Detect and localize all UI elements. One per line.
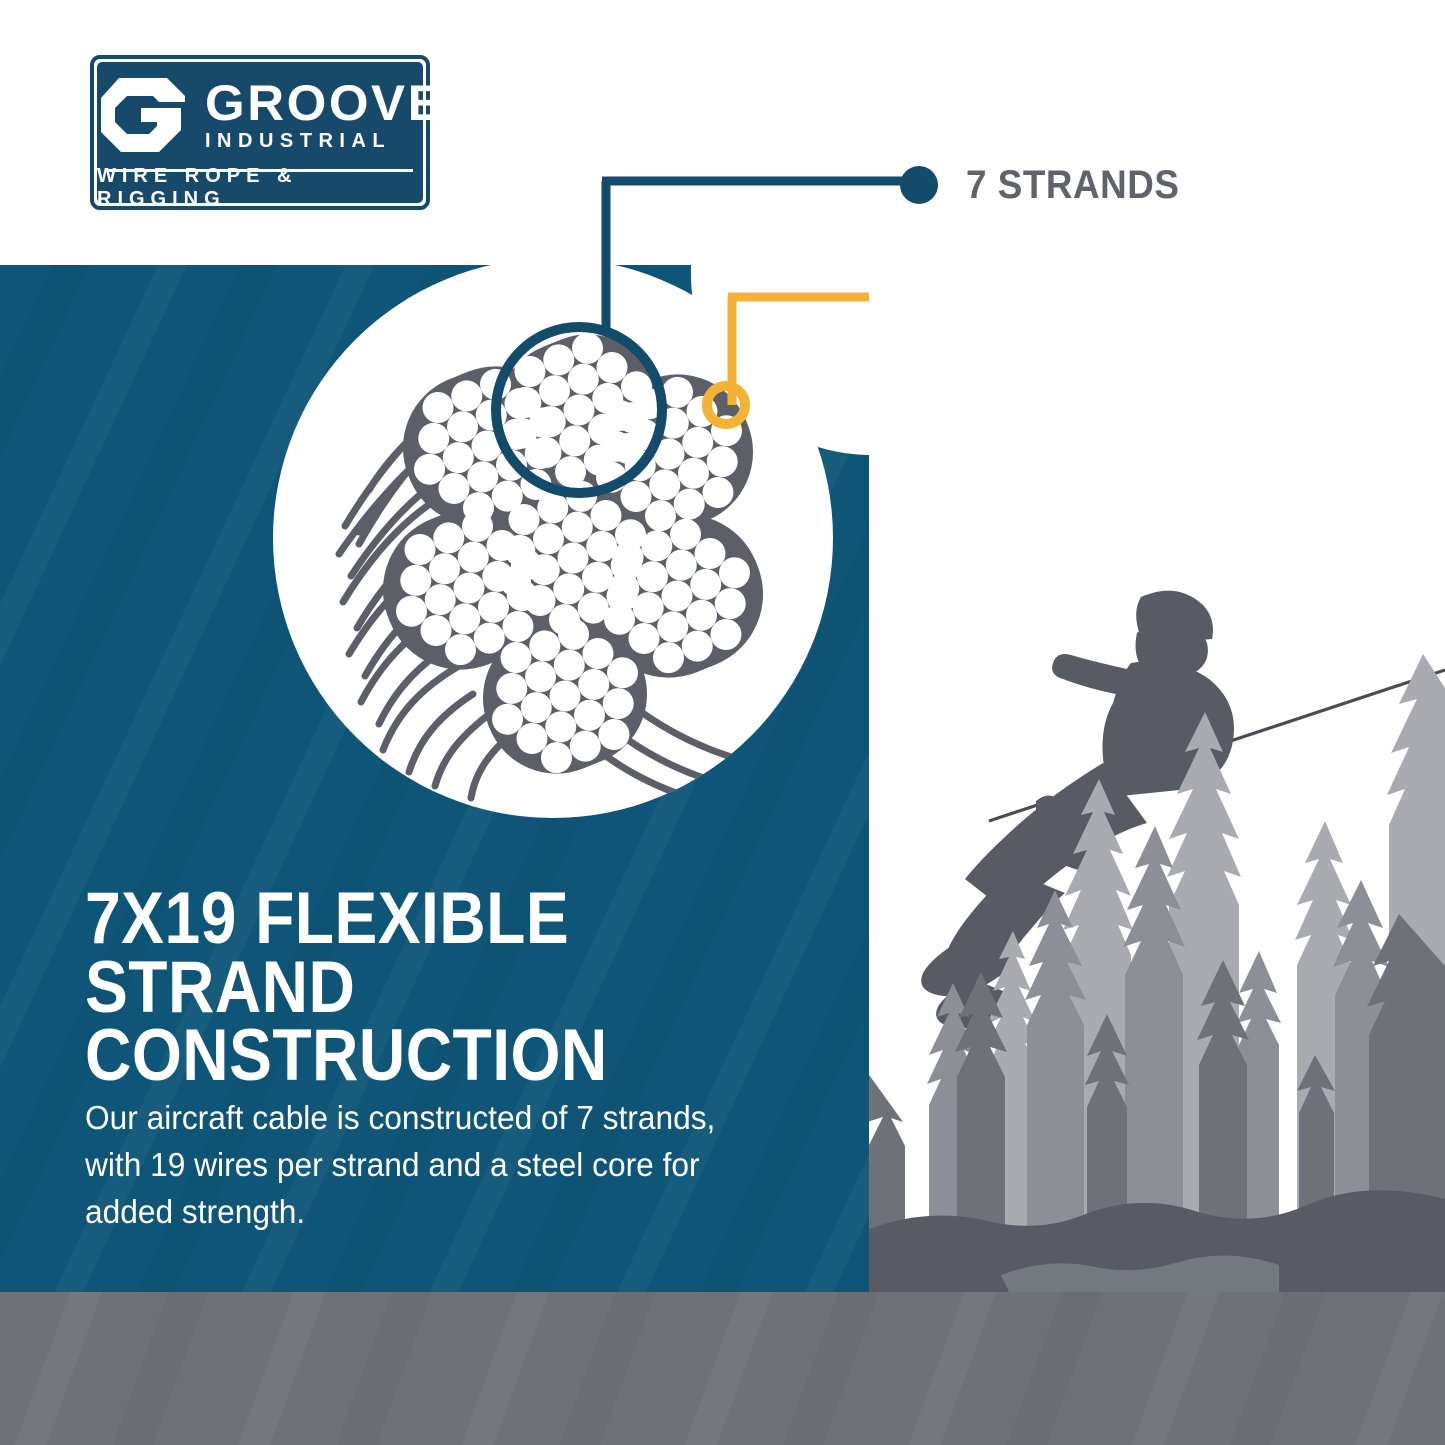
- callout-item-strands[interactable]: 7 STRANDS: [900, 150, 1420, 220]
- headline-line-2: STRAND CONSTRUCTION: [85, 954, 754, 1091]
- page-title: 7X19 FLEXIBLE STRAND CONSTRUCTION: [85, 885, 754, 1091]
- zipline-photo-scene: [869, 265, 1445, 1292]
- logo-top-row: GROOVE INDUSTRIAL: [97, 62, 423, 167]
- cable-cross-section-illustration: [273, 258, 833, 818]
- brand-logo[interactable]: GROOVE INDUSTRIAL WIRE ROPE & RIGGING: [90, 55, 430, 210]
- logo-wordmark: GROOVE INDUSTRIAL: [189, 79, 439, 151]
- callout-dot-icon: [900, 166, 938, 204]
- infographic-root: GROOVE INDUSTRIAL WIRE ROPE & RIGGING: [0, 0, 1445, 1445]
- logo-brand-name: GROOVE: [205, 79, 444, 127]
- bottom-gray-bar: [0, 1292, 1445, 1445]
- logo-tagline-text: WIRE ROPE & RIGGING: [97, 165, 423, 211]
- description-text: Our aircraft cable is constructed of 7 s…: [85, 1095, 719, 1236]
- zipline-illustration: [869, 265, 1445, 1292]
- groove-g-icon: [97, 62, 189, 167]
- logo-brand-sub: INDUSTRIAL: [205, 131, 439, 151]
- gray-bar-wave-texture: [0, 1292, 1445, 1445]
- logo-tagline-bar: WIRE ROPE & RIGGING: [97, 172, 423, 203]
- callout-label: 7 STRANDS: [966, 165, 1180, 205]
- logo-inner-plate: GROOVE INDUSTRIAL WIRE ROPE & RIGGING: [97, 62, 423, 203]
